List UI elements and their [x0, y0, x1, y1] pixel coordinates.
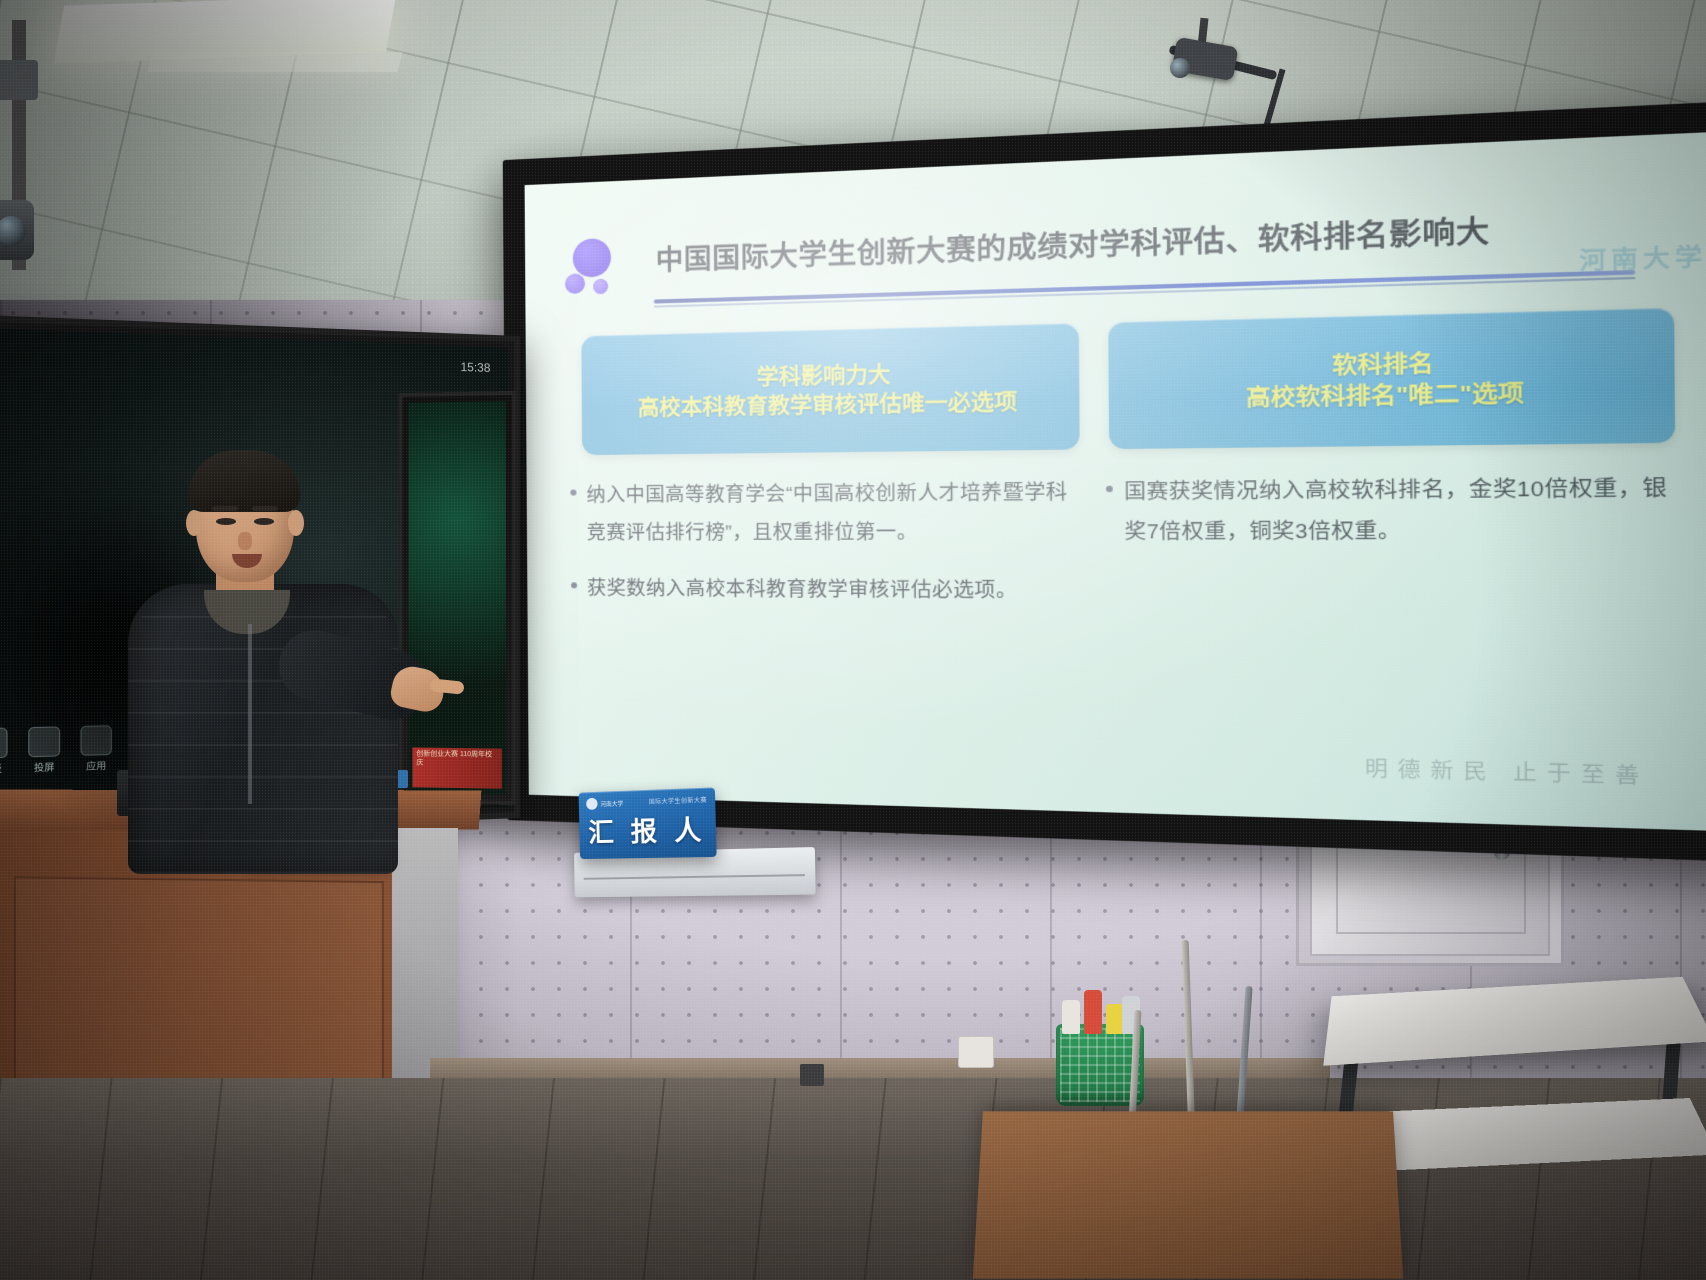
classroom-presentation-photo: 安全出口 中国国际大学生创新大赛的成绩对学科评估、软科排名影响大 — [0, 0, 1706, 1280]
floor-junction-box — [800, 1064, 824, 1086]
slide-bullet-columns: 纳入中国高等教育学会“中国高校创新人才培养暨学科竞赛评估排行榜”，且权重排位第一… — [570, 468, 1687, 637]
presenter-hair — [188, 450, 300, 512]
university-seal-icon — [586, 798, 598, 810]
highlight-box-ranking: 软科排名 高校软科排名"唯二"选项 — [1108, 308, 1675, 449]
nameplate-university-name: 河南大学 — [600, 798, 623, 808]
presenter-eyebrow-right — [252, 506, 278, 511]
bullet-text: 获奖数纳入高校本科教育教学审核评估必选项。 — [587, 570, 1018, 611]
cleaning-bottle — [1084, 990, 1102, 1034]
logo-dot-medium — [565, 273, 585, 294]
highlight-box-detail: 高校软科排名"唯二"选项 — [1246, 378, 1524, 414]
presenter-eyebrow-left — [212, 506, 238, 511]
bubbles-logo-icon — [565, 237, 646, 300]
ceiling-projector — [1150, 18, 1300, 118]
presentation-slide: 中国国际大学生创新大赛的成绩对学科评估、软科排名影响大 河南大学 学科影响力大 … — [525, 131, 1706, 832]
nameplate-role-label: 汇 报 人 — [588, 808, 707, 850]
bullet-item: 国赛获奖情况纳入高校软科排名，金奖10倍权重，银奖7倍权重，铜奖3倍权重。 — [1106, 468, 1686, 553]
bullet-dot-icon — [571, 582, 577, 588]
highlight-box-discipline: 学科影响力大 高校本科教育教学审核评估唯一必选项 — [581, 323, 1079, 455]
projection-screen: 中国国际大学生创新大赛的成绩对学科评估、软科排名影响大 河南大学 学科影响力大 … — [503, 100, 1706, 863]
bullet-column-right: 国赛获奖情况纳入高校软科排名，金奖10倍权重，银奖7倍权重，铜奖3倍权重。 — [1106, 468, 1687, 637]
bullet-text: 国赛获奖情况纳入高校软科排名，金奖10倍权重，银奖7倍权重，铜奖3倍权重。 — [1124, 468, 1686, 553]
nameplate-stand-edge — [584, 874, 805, 880]
presenter-jacket-zipper — [248, 624, 252, 804]
presenter-ear-left — [186, 510, 202, 536]
projector-lens-icon — [1170, 58, 1190, 78]
bullet-item: 纳入中国高等教育学会“中国高校创新人才培养暨学科竞赛评估排行榜”，且权重排位第一… — [570, 473, 1079, 552]
display-toolbar-item[interactable]: 白板 — [0, 728, 8, 777]
nameplate-subtitle: 国际大学生创新大赛 — [649, 795, 707, 806]
bullet-text: 纳入中国高等教育学会“中国高校创新人才培养暨学科竞赛评估排行榜”，且权重排位第一… — [586, 473, 1079, 552]
bullet-dot-icon — [1106, 486, 1113, 492]
presenter-eye-right — [254, 518, 274, 525]
presenter-ear-right — [288, 510, 304, 536]
logo-dot-large — [573, 238, 611, 278]
bullet-item: 获奖数纳入高校本科教育教学审核评估必选项。 — [571, 570, 1080, 611]
camera-housing — [0, 60, 38, 100]
bullet-column-left: 纳入中国高等教育学会“中国高校创新人才培养暨学科竞赛评估排行榜”，且权重排位第一… — [570, 473, 1080, 631]
presenter-nose — [238, 532, 252, 550]
slide-watermark: 河南大学 — [1579, 238, 1706, 276]
slide-title: 中国国际大学生创新大赛的成绩对学科评估、软科排名影响大 — [656, 209, 1625, 279]
presenter-jacket-quilting — [128, 594, 398, 874]
screen-surface: 中国国际大学生创新大赛的成绩对学科评估、软科排名影响大 河南大学 学科影响力大 … — [525, 131, 1706, 832]
ceiling-camera-rig — [0, 20, 54, 310]
display-clock: 15:38 — [461, 360, 491, 375]
toolbar-label: 白板 — [0, 761, 8, 776]
nameplate-university-logo: 河南大学 — [586, 797, 623, 810]
slide-footer-motto: 明德新民 止于至善 — [1365, 753, 1650, 790]
highlight-box-row: 学科影响力大 高校本科教育教学审核评估唯一必选项 软科排名 高校软科排名"唯二"… — [581, 308, 1675, 455]
title-underline — [654, 270, 1635, 304]
presenter-nameplate: 河南大学 国际大学生创新大赛 汇 报 人 — [578, 787, 716, 859]
highlight-box-heading: 软科排名 — [1332, 348, 1434, 381]
title-underline-secondary — [654, 277, 1635, 308]
basket-mesh-pattern — [1060, 1028, 1140, 1102]
logo-dot-small — [593, 279, 608, 295]
cleaning-bottle — [1062, 1000, 1080, 1034]
front-desk — [973, 1111, 1403, 1278]
presenter-eye-left — [216, 518, 236, 525]
whiteboard-icon[interactable] — [0, 728, 8, 759]
presenter — [100, 444, 430, 864]
bullet-dot-icon — [570, 489, 576, 495]
highlight-box-detail: 高校本科教育教学审核评估唯一必选项 — [638, 387, 1018, 423]
highlight-box-heading: 学科影响力大 — [757, 360, 891, 392]
wall-power-outlet[interactable] — [958, 1036, 994, 1068]
